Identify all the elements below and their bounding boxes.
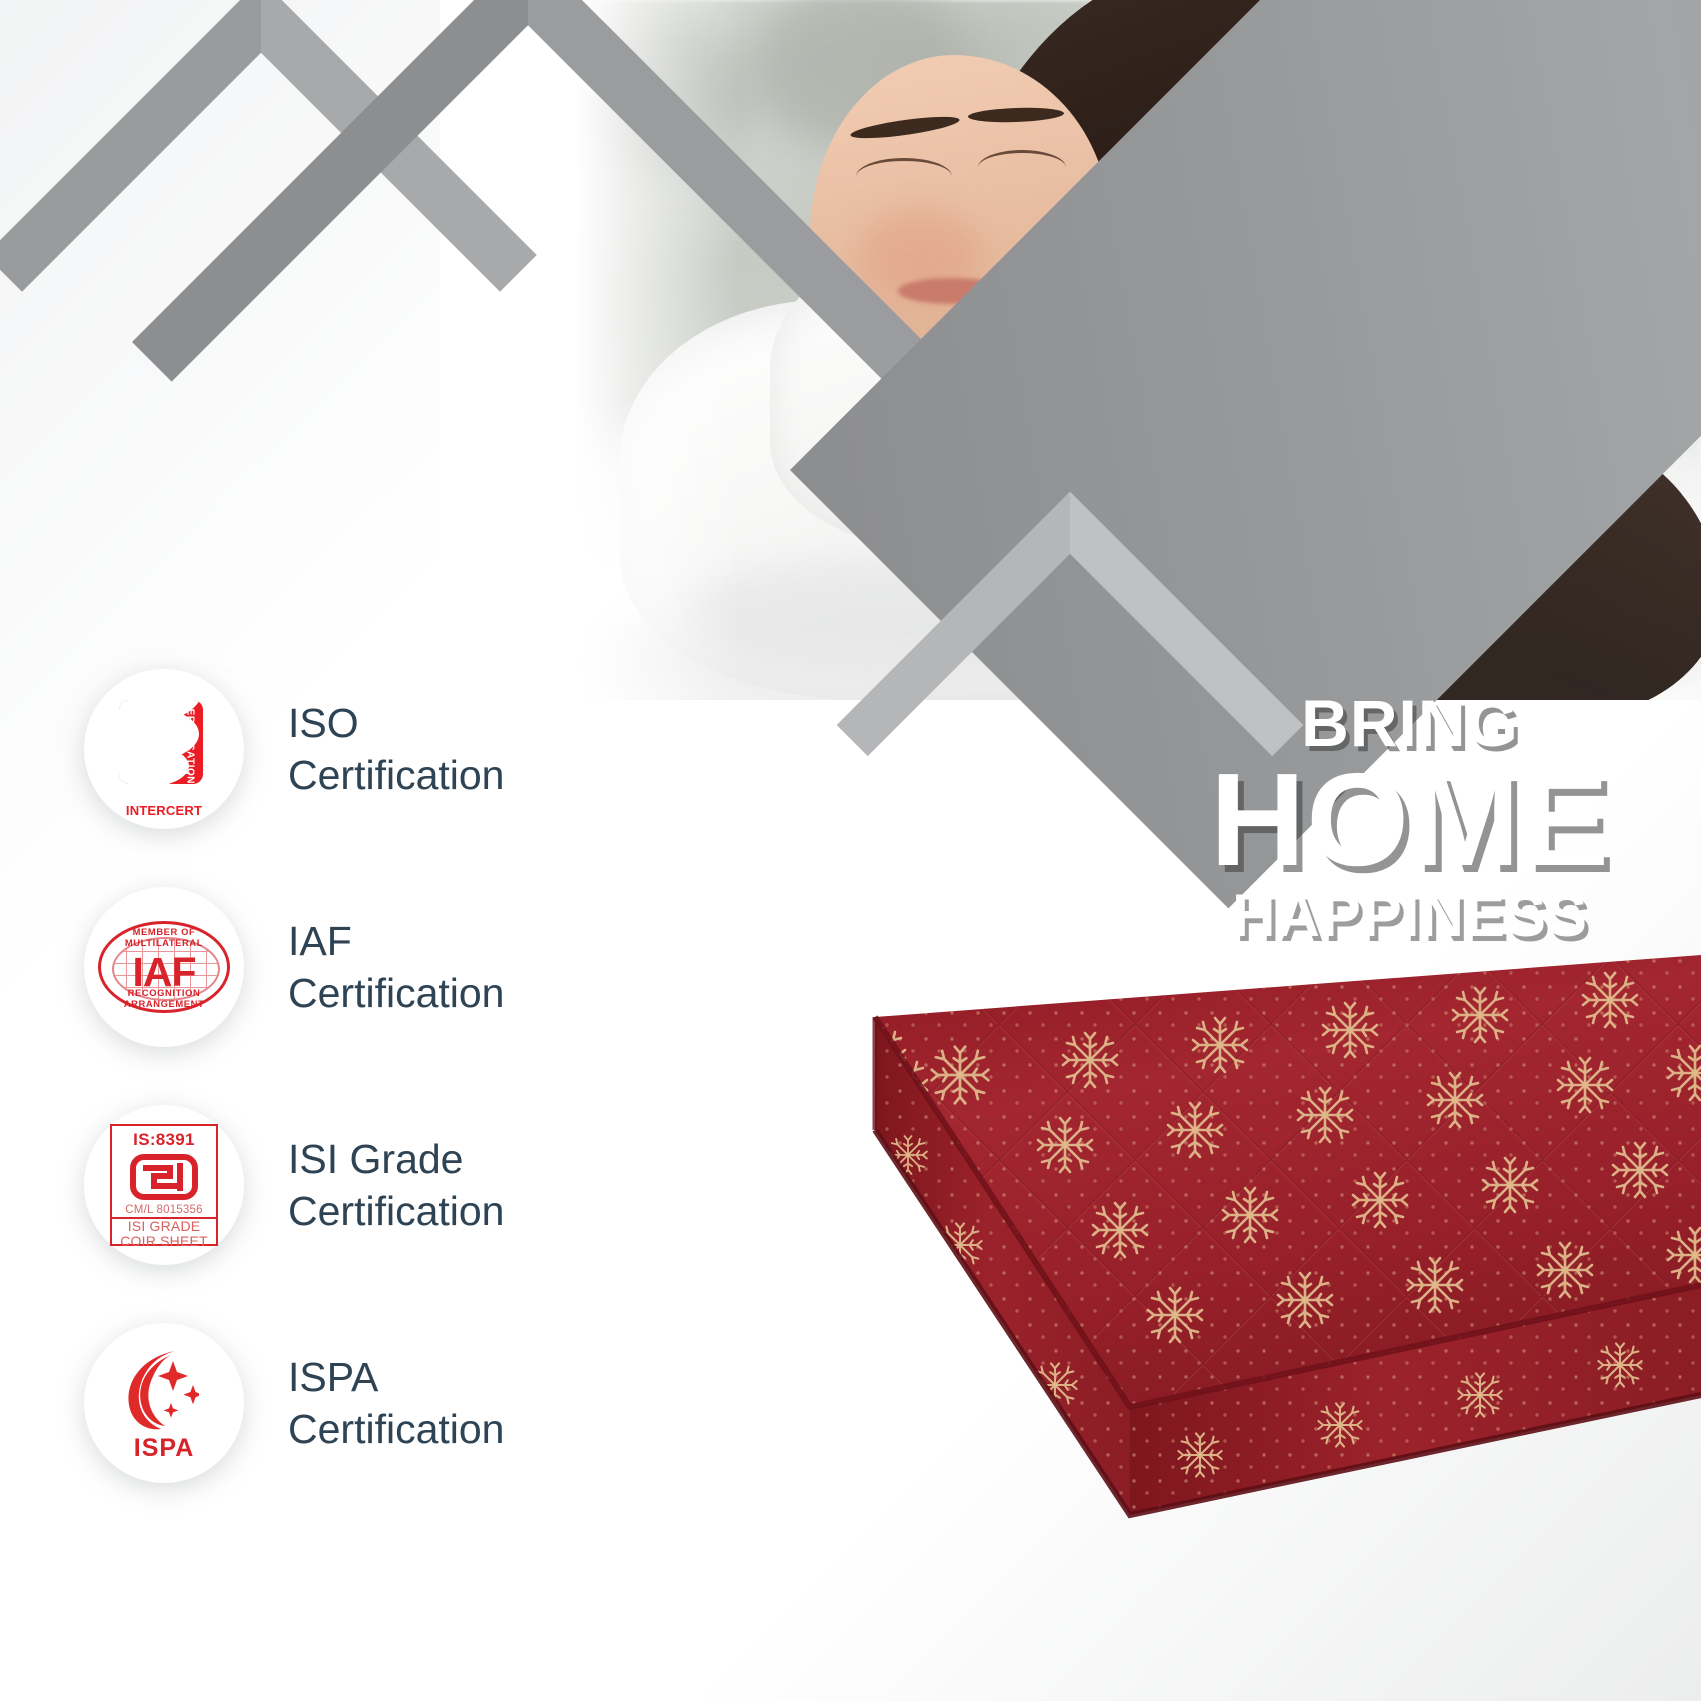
ispa-crescent-moon-icon: ISPA xyxy=(109,1343,219,1463)
badge-circle-iso: CERTIFICATION ISO 9001 INTERCERT xyxy=(84,669,244,829)
iaf-oval-badge-icon: MEMBER OF MULTILATERAL IAF RECOGNITION A… xyxy=(98,921,230,1013)
isi-grade-line-1: ISI GRADE xyxy=(128,1218,201,1234)
certification-list: CERTIFICATION ISO 9001 INTERCERT ISO Cer… xyxy=(84,640,644,1512)
certification-label-isi: ISI Grade Certification xyxy=(288,1133,504,1238)
badge-circle-isi: IS:8391 CM/L 8015356 ISI GRADE COIR SHEE… xyxy=(84,1105,244,1265)
product-mattress xyxy=(660,955,1701,1615)
intercert-text: INTERCERT xyxy=(115,803,213,818)
certification-label-ispa: ISPA Certification xyxy=(288,1351,504,1456)
label-line-1: ISO xyxy=(288,700,359,746)
label-line-1: ISI Grade xyxy=(288,1136,463,1182)
label-line-2: Certification xyxy=(288,967,504,1019)
headline-block: BRING HOME HAPPINESS xyxy=(1130,690,1690,946)
isi-grade-line-2: COIR SHEET xyxy=(120,1233,208,1249)
label-line-1: IAF xyxy=(288,918,352,964)
ispa-name-text: ISPA xyxy=(109,1434,219,1463)
isi-licence-text: CM/L 8015356 xyxy=(112,1204,216,1219)
isi-standard-text: IS:8391 xyxy=(112,1130,216,1150)
isi-monogram xyxy=(130,1154,198,1200)
headline-line-3: HAPPINESS xyxy=(1130,886,1690,946)
certification-item-isi[interactable]: IS:8391 CM/L 8015356 ISI GRADE COIR SHEE… xyxy=(84,1076,644,1294)
badge-circle-iaf: MEMBER OF MULTILATERAL IAF RECOGNITION A… xyxy=(84,887,244,1047)
mattress-svg xyxy=(660,955,1701,1615)
label-line-2: Certification xyxy=(288,1185,504,1237)
label-line-2: Certification xyxy=(288,749,504,801)
badge-circle-ispa: ISPA xyxy=(84,1323,244,1483)
certification-item-iso[interactable]: CERTIFICATION ISO 9001 INTERCERT ISO Cer… xyxy=(84,640,644,858)
advertisement-canvas: BRING HOME HAPPINESS xyxy=(0,0,1701,1701)
iaf-top-text: MEMBER OF MULTILATERAL xyxy=(98,926,230,948)
headline-line-2: HOME xyxy=(1130,758,1690,882)
closed-eye xyxy=(856,158,952,195)
iso-standard-text: ISO 9001 xyxy=(127,762,191,778)
crescent-moon-shape xyxy=(113,1345,199,1431)
closed-eye xyxy=(978,150,1066,185)
isi-grade-mark-icon: IS:8391 CM/L 8015356 ISI GRADE COIR SHEE… xyxy=(110,1124,218,1246)
iso-square: CERTIFICATION ISO 9001 xyxy=(119,700,203,784)
label-line-2: Certification xyxy=(288,1403,504,1455)
certification-item-ispa[interactable]: ISPA ISPA Certification xyxy=(84,1294,644,1512)
certification-label-iaf: IAF Certification xyxy=(288,915,504,1020)
isi-grade-text: ISI GRADE COIR SHEET xyxy=(112,1219,216,1249)
label-line-1: ISPA xyxy=(288,1354,378,1400)
certification-label-iso: ISO Certification xyxy=(288,697,504,802)
iaf-bottom-text: RECOGNITION ARRANGEMENT xyxy=(98,987,230,1009)
iso-9001-badge-icon: CERTIFICATION ISO 9001 INTERCERT xyxy=(115,700,213,798)
certification-item-iaf[interactable]: MEMBER OF MULTILATERAL IAF RECOGNITION A… xyxy=(84,858,644,1076)
